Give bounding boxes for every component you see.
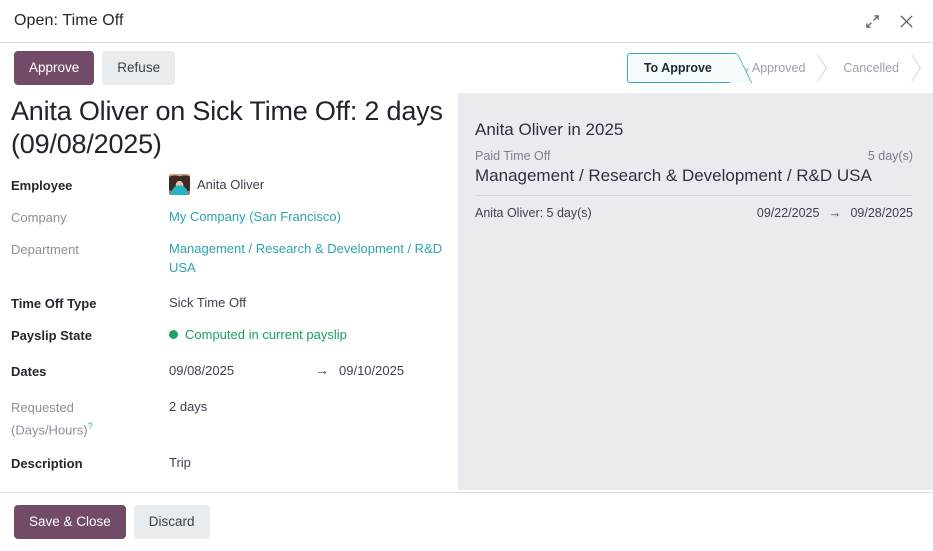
field-company-value[interactable]: My Company (San Francisco) (169, 207, 444, 226)
summary-detail-from: 09/22/2025 (757, 206, 820, 220)
field-dates-from[interactable]: 09/08/2025 (169, 361, 315, 380)
time-off-summary-panel: Anita Oliver in 2025 Paid Time Off 5 day… (458, 93, 933, 490)
status-step-cancelled-label: Cancelled (843, 61, 899, 75)
field-requested-label-line2: (Days/Hours) (11, 422, 88, 437)
field-requested: Requested (Days/Hours)? 2 days (11, 397, 444, 439)
arrow-right-icon: → (315, 361, 329, 380)
discard-button[interactable]: Discard (134, 505, 210, 540)
status-step-approved-label: Approved (752, 61, 806, 75)
field-dates-value: 09/08/2025 → 09/10/2025 (169, 361, 444, 380)
dialog-controlbar: Approve Refuse To Approve Approved Cance… (0, 43, 933, 93)
summary-detail-dates: 09/22/2025 → 09/28/2025 (757, 203, 913, 222)
dialog-title: Open: Time Off (14, 12, 124, 30)
field-time-off-type: Time Off Type Sick Time Off (11, 293, 444, 313)
field-company: Company My Company (San Francisco) (11, 207, 444, 227)
field-dates-label: Dates (11, 361, 169, 381)
field-employee: Employee Anita Oliver (11, 175, 444, 195)
field-dates: Dates 09/08/2025 → 09/10/2025 (11, 361, 444, 381)
summary-title: Anita Oliver in 2025 (475, 119, 913, 141)
summary-type-label: Paid Time Off (475, 149, 551, 163)
summary-detail-to: 09/28/2025 (850, 206, 913, 220)
field-employee-value[interactable]: Anita Oliver (169, 175, 444, 195)
field-description-value[interactable]: Trip (169, 453, 444, 472)
refuse-button[interactable]: Refuse (102, 51, 175, 86)
dialog-body: Anita Oliver on Sick Time Off: 2 days (0… (0, 93, 933, 492)
field-company-label: Company (11, 207, 169, 227)
save-and-close-button[interactable]: Save & Close (14, 505, 126, 540)
field-time-off-type-label: Time Off Type (11, 293, 169, 313)
expand-icon[interactable] (859, 8, 885, 34)
close-icon[interactable] (893, 8, 919, 34)
time-off-dialog: Open: Time Off Approve Refuse To Approve… (0, 0, 933, 551)
field-department-label: Department (11, 239, 169, 259)
field-employee-name: Anita Oliver (197, 175, 264, 194)
field-payslip-state-value: Computed in current payslip (169, 325, 444, 344)
status-dot-icon (169, 330, 178, 339)
summary-detail-name: Anita Oliver: 5 day(s) (475, 206, 592, 220)
dialog-titlebar: Open: Time Off (0, 0, 933, 43)
summary-detail-row: Anita Oliver: 5 day(s) 09/22/2025 → 09/2… (475, 195, 913, 222)
summary-type-amount: 5 day(s) (868, 149, 913, 163)
field-requested-label-line1: Requested (11, 400, 74, 415)
status-bar: To Approve Approved Cancelled (627, 53, 919, 83)
field-dates-to[interactable]: 09/10/2025 (339, 361, 404, 380)
status-step-to-approve[interactable]: To Approve (627, 53, 734, 83)
dialog-footer: Save & Close Discard (0, 492, 933, 551)
field-department-value[interactable]: Management / Research & Development / R&… (169, 239, 444, 277)
field-payslip-state: Payslip State Computed in current paysli… (11, 325, 444, 345)
field-requested-value[interactable]: 2 days (169, 397, 444, 416)
field-time-off-type-value[interactable]: Sick Time Off (169, 293, 444, 312)
field-description: Description Trip (11, 453, 444, 473)
summary-type-row: Paid Time Off 5 day(s) (475, 149, 913, 163)
field-department: Department Management / Research & Devel… (11, 239, 444, 277)
field-payslip-state-text: Computed in current payslip (185, 325, 347, 344)
field-requested-label: Requested (Days/Hours)? (11, 397, 169, 439)
status-step-to-approve-label: To Approve (644, 61, 712, 75)
field-description-label: Description (11, 453, 169, 473)
form-column: Anita Oliver on Sick Time Off: 2 days (0… (0, 93, 458, 492)
field-payslip-state-label: Payslip State (11, 325, 169, 345)
arrow-right-icon: → (828, 203, 841, 222)
approve-button[interactable]: Approve (14, 51, 94, 86)
summary-department: Management / Research & Development / R&… (475, 165, 913, 187)
status-step-cancelled[interactable]: Cancelled (825, 53, 919, 83)
avatar (169, 174, 190, 195)
help-tooltip-icon[interactable]: ? (88, 421, 93, 431)
record-title: Anita Oliver on Sick Time Off: 2 days (0… (11, 93, 444, 161)
field-employee-label: Employee (11, 175, 169, 195)
